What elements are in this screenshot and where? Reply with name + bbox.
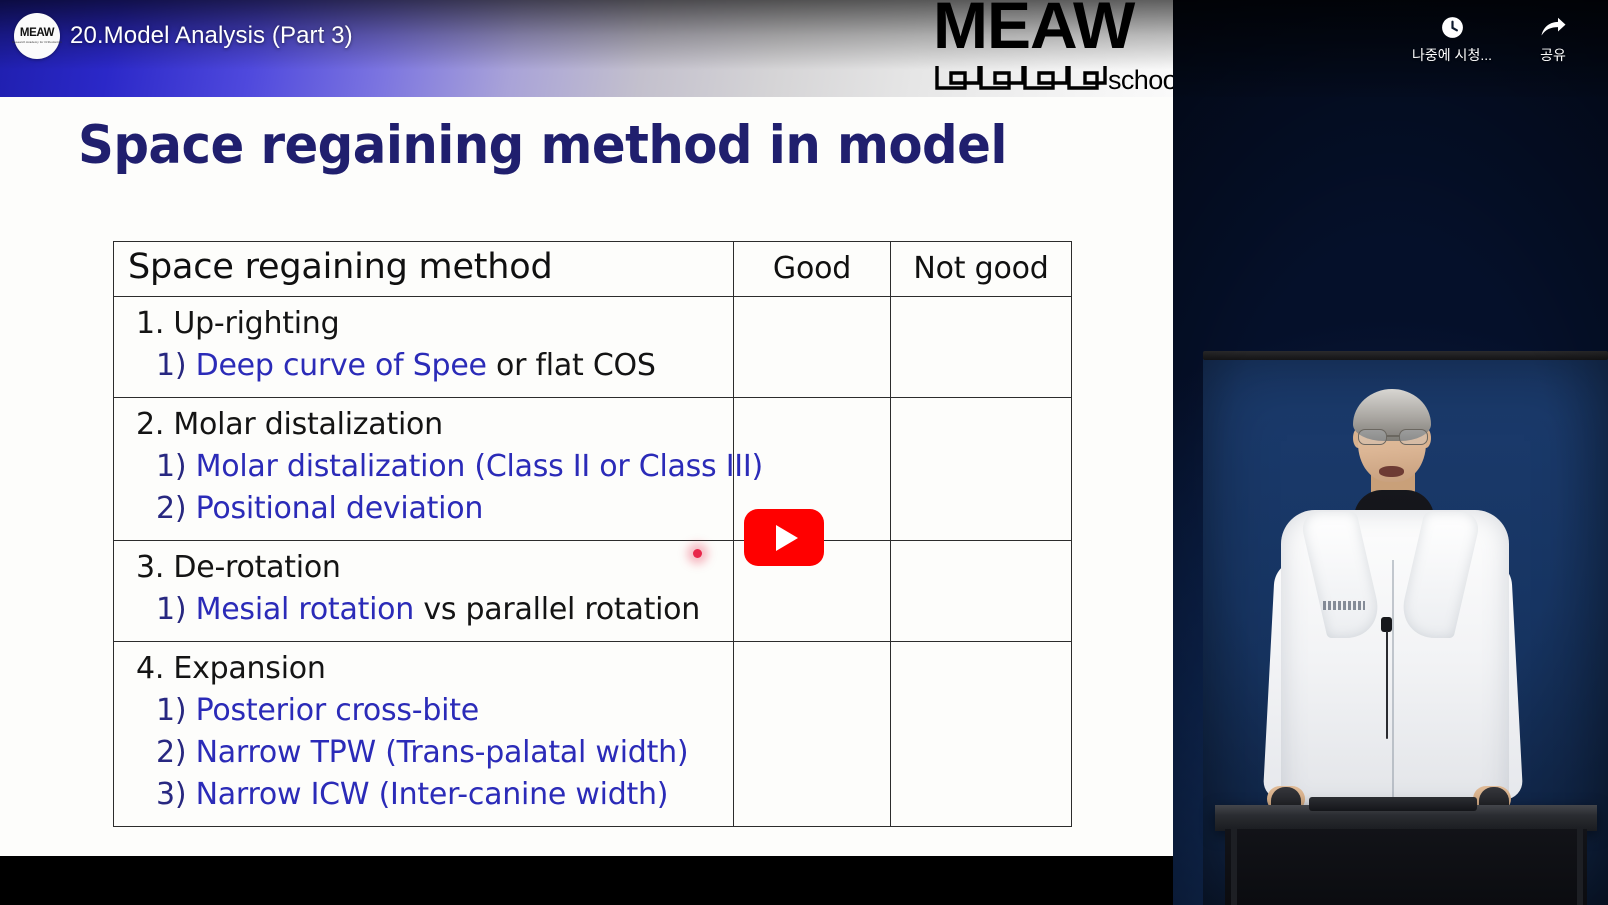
method-main-label: 3. De-rotation <box>132 547 733 589</box>
method-main-label: 1. Up-righting <box>132 303 733 345</box>
sub-number: 3) <box>156 777 186 812</box>
slide-title: Space regaining method in model <box>78 115 1007 176</box>
play-triangle-icon <box>776 525 798 551</box>
header-cell-not-good: Not good <box>891 242 1072 297</box>
watch-later-label: 나중에 시청... <box>1412 45 1492 65</box>
sub-black-text: vs parallel rotation <box>414 592 700 627</box>
sub-number: 2) <box>156 735 186 770</box>
podium-desk-front <box>1225 829 1587 905</box>
method-sub-item: 3) Narrow ICW (Inter-canine width) <box>132 774 733 816</box>
sub-black-text: or flat COS <box>487 348 656 383</box>
sub-number: 1) <box>156 449 186 484</box>
avatar-sublabel: Research Academy for Orthodontics <box>12 41 62 44</box>
table-row: 4. Expansion 1) Posterior cross-bite 2) … <box>114 642 1072 827</box>
brand-zigzag-icon <box>935 62 1107 92</box>
meaw-school-logo: MEAW school <box>933 2 1169 96</box>
brand-suffix: school <box>1108 68 1173 92</box>
sub-number: 1) <box>156 693 186 728</box>
podium-leg-left <box>1231 828 1237 905</box>
presenter-video-panel[interactable] <box>1173 0 1608 905</box>
good-cell[interactable] <box>734 642 891 827</box>
table-row: 2. Molar distalization 1) Molar distaliz… <box>114 398 1072 541</box>
channel-avatar[interactable]: MEAW Research Academy for Orthodontics <box>14 13 60 59</box>
method-sub-item: 1) Molar distalization (Class II or Clas… <box>132 446 733 488</box>
not-good-cell[interactable] <box>891 642 1072 827</box>
table-row: 1. Up-righting 1) Deep curve of Spee or … <box>114 297 1072 398</box>
sub-blue-text: Narrow ICW (Inter-canine width) <box>196 777 669 812</box>
presenter-glasses-icon <box>1357 429 1429 446</box>
method-cell: 2. Molar distalization 1) Molar distaliz… <box>114 398 734 541</box>
method-main-label: 2. Molar distalization <box>132 404 733 446</box>
method-cell: 4. Expansion 1) Posterior cross-bite 2) … <box>114 642 734 827</box>
method-sub-item: 1) Deep curve of Spee or flat COS <box>132 345 733 387</box>
sub-number: 1) <box>156 348 186 383</box>
not-good-cell[interactable] <box>891 541 1072 642</box>
method-sub-item: 1) Posterior cross-bite <box>132 690 733 732</box>
podium-leg-right <box>1577 828 1583 905</box>
sub-blue-text: Molar distalization (Class II or Class I… <box>196 449 763 484</box>
video-title[interactable]: 20.Model Analysis (Part 3) <box>70 22 353 50</box>
header-good-label: Good <box>734 242 890 296</box>
sub-blue-text: Mesial rotation <box>196 592 414 627</box>
screen-root: MEAW Research Academy for Orthodontics M… <box>0 0 1608 905</box>
header-action-buttons: 나중에 시청... 공유 <box>1402 12 1608 67</box>
share-button[interactable]: 공유 <box>1524 12 1582 67</box>
presenter-figure <box>1173 0 1608 905</box>
header-method-label: Space regaining method <box>114 242 733 294</box>
method-sub-item: 1) Mesial rotation vs parallel rotation <box>132 589 733 631</box>
slide-content-area: Space regaining method in model Space re… <box>0 97 1173 856</box>
share-arrow-icon <box>1539 14 1567 40</box>
header-cell-method: Space regaining method <box>114 242 734 297</box>
play-button[interactable] <box>744 509 824 566</box>
brand-wordmark: MEAW <box>933 0 1134 58</box>
presenter-mouth <box>1379 466 1404 477</box>
method-sub-item: 2) Narrow TPW (Trans-palatal width) <box>132 732 733 774</box>
sub-number: 2) <box>156 491 186 526</box>
good-cell[interactable] <box>734 297 891 398</box>
clock-icon <box>1440 14 1465 40</box>
avatar-label: MEAW <box>20 28 54 40</box>
laser-pointer-dot <box>693 549 702 558</box>
table-header-row: Space regaining method Good Not good <box>114 242 1072 297</box>
header-not-good-label: Not good <box>891 242 1071 296</box>
lapel-microphone-icon <box>1381 617 1392 632</box>
space-regaining-method-table: Space regaining method Good Not good 1. … <box>113 241 1072 827</box>
sub-blue-text: Narrow TPW (Trans-palatal width) <box>196 735 689 770</box>
sub-blue-text: Deep curve of Spee <box>196 348 487 383</box>
not-good-cell[interactable] <box>891 297 1072 398</box>
method-cell: 3. De-rotation 1) Mesial rotation vs par… <box>114 541 734 642</box>
presenter-coat-seam <box>1392 560 1394 810</box>
sub-blue-text: Posterior cross-bite <box>196 693 479 728</box>
method-main-label: 4. Expansion <box>132 648 733 690</box>
table-row: 3. De-rotation 1) Mesial rotation vs par… <box>114 541 1072 642</box>
method-sub-item: 2) Positional deviation <box>132 488 733 530</box>
desk-keyboard <box>1309 797 1477 811</box>
method-cell: 1. Up-righting 1) Deep curve of Spee or … <box>114 297 734 398</box>
share-label: 공유 <box>1540 45 1566 65</box>
watch-later-button[interactable]: 나중에 시청... <box>1402 12 1502 67</box>
presenter-name-embroidery <box>1323 601 1365 610</box>
not-good-cell[interactable] <box>891 398 1072 541</box>
microphone-wire <box>1386 631 1388 739</box>
sub-blue-text: Positional deviation <box>196 491 484 526</box>
header-cell-good: Good <box>734 242 891 297</box>
sub-number: 1) <box>156 592 186 627</box>
